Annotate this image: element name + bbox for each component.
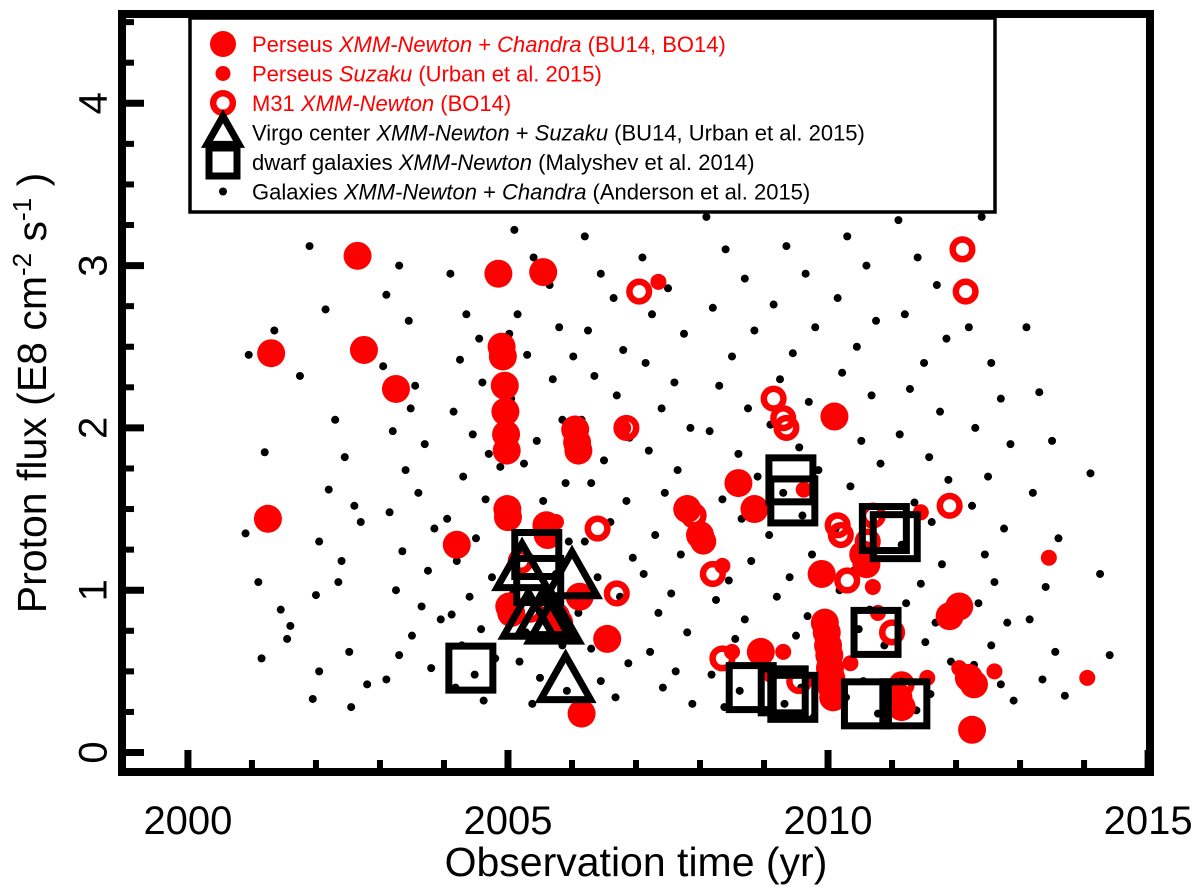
data-point-tiny-dot: [659, 684, 667, 692]
data-point-large-filled-circle: [254, 505, 282, 533]
data-point-tiny-dot: [514, 310, 522, 318]
data-point-tiny-dot: [645, 447, 653, 455]
data-point-tiny-dot: [254, 578, 262, 586]
data-point-tiny-dot: [485, 450, 493, 458]
data-point-tiny-dot: [597, 270, 605, 278]
legend-item[interactable]: Galaxies XMM-Newton + Chandra (Anderson …: [219, 180, 810, 205]
scatter-plot: 200020052010201501234Observation time (y…: [0, 0, 1200, 889]
data-point-tiny-dot: [1026, 615, 1034, 623]
data-point-tiny-dot: [448, 611, 456, 619]
data-point-large-filled-circle: [382, 375, 410, 403]
data-point-tiny-dot: [688, 700, 696, 708]
data-point-tiny-dot: [427, 664, 435, 672]
data-point-tiny-dot: [838, 369, 846, 377]
data-point-tiny-dot: [917, 580, 925, 588]
data-point-small-filled-circle: [548, 514, 564, 530]
data-point-tiny-dot: [1061, 692, 1069, 700]
data-point-tiny-dot: [802, 270, 810, 278]
data-point-open-circle: [940, 496, 960, 516]
data-point-tiny-dot: [754, 473, 762, 481]
data-point-tiny-dot: [747, 557, 755, 565]
data-point-tiny-dot: [987, 359, 995, 367]
data-point-tiny-dot: [651, 531, 659, 539]
data-point-tiny-dot: [563, 687, 571, 695]
data-point-tiny-dot: [968, 502, 976, 510]
data-point-tiny-dot: [987, 641, 995, 649]
data-point-tiny-dot: [658, 404, 666, 412]
data-point-large-filled-circle: [724, 469, 752, 497]
data-point-open-circle: [956, 282, 976, 302]
data-point-tiny-dot: [765, 531, 773, 539]
x-tick-label: 2005: [463, 799, 552, 843]
data-point-tiny-dot: [1054, 534, 1062, 542]
data-point-tiny-dot: [776, 375, 784, 383]
data-point-tiny-dot: [702, 213, 710, 221]
data-point-small-filled-circle: [1079, 670, 1095, 686]
data-point-tiny-dot: [270, 327, 278, 335]
data-point-tiny-dot: [619, 346, 627, 354]
legend-marker-large-filled-circle-icon: [210, 31, 236, 57]
data-point-tiny-dot: [569, 352, 577, 360]
data-point-tiny-dot: [398, 547, 406, 555]
data-point-tiny-dot: [283, 635, 291, 643]
data-point-tiny-dot: [389, 427, 397, 435]
data-point-open-circle: [953, 240, 973, 260]
data-point-tiny-dot: [600, 456, 608, 464]
x-tick-label: 2015: [1104, 799, 1193, 843]
legend-label: Virgo center XMM-Newton + Suzaku (BU14, …: [252, 121, 865, 146]
legend-item[interactable]: dwarf galaxies XMM-Newton (Malyshev et a…: [209, 148, 755, 176]
data-point-large-filled-circle: [958, 716, 986, 744]
data-point-tiny-dot: [590, 372, 598, 380]
data-point-tiny-dot: [782, 242, 790, 250]
data-point-tiny-dot: [770, 301, 778, 309]
data-point-tiny-dot: [718, 495, 726, 503]
data-point-tiny-dot: [277, 606, 285, 614]
data-point-tiny-dot: [781, 700, 789, 708]
data-point-large-filled-circle: [494, 503, 522, 531]
legend-label: Perseus Suzaku (Urban et al. 2015): [252, 62, 602, 87]
data-point-tiny-dot: [418, 602, 426, 610]
data-point-tiny-dot: [424, 567, 432, 575]
data-point-tiny-dot: [1035, 388, 1043, 396]
data-point-tiny-dot: [510, 226, 518, 234]
data-point-tiny-dot: [677, 551, 685, 559]
data-point-tiny-dot: [925, 453, 933, 461]
data-point-tiny-dot: [520, 460, 528, 468]
data-point-tiny-dot: [587, 645, 595, 653]
y-tick-label: 0: [72, 741, 116, 763]
data-point-tiny-dot: [965, 323, 973, 331]
data-point-tiny-dot: [853, 343, 861, 351]
data-point-tiny-dot: [480, 697, 488, 705]
data-point-large-filled-circle: [568, 700, 596, 728]
data-point-tiny-dot: [1010, 697, 1018, 705]
data-point-tiny-dot: [395, 262, 403, 270]
data-point-tiny-dot: [1022, 323, 1030, 331]
data-point-tiny-dot: [1048, 437, 1056, 445]
data-point-tiny-dot: [341, 453, 349, 461]
data-point-tiny-dot: [741, 615, 749, 623]
data-point-tiny-dot: [584, 327, 592, 335]
data-point-tiny-dot: [309, 695, 317, 703]
legend: Perseus XMM-Newton + Chandra (BU14, BO14…: [190, 18, 995, 212]
data-point-tiny-dot: [906, 385, 914, 393]
data-point-tiny-dot: [725, 576, 733, 584]
data-point-tiny-dot: [642, 359, 650, 367]
data-point-tiny-dot: [528, 700, 536, 708]
data-point-tiny-dot: [477, 625, 485, 633]
data-point-tiny-dot: [549, 375, 557, 383]
data-point-tiny-dot: [1042, 583, 1050, 591]
legend-marker-tiny-dot-icon: [219, 188, 227, 196]
data-point-tiny-dot: [581, 232, 589, 240]
data-point-tiny-dot: [914, 253, 922, 261]
data-point-large-filled-circle: [484, 260, 512, 288]
data-point-tiny-dot: [1029, 489, 1037, 497]
data-point-tiny-dot: [581, 538, 589, 546]
legend-item[interactable]: M31 XMM-Newton (BO14): [213, 91, 511, 116]
data-point-tiny-dot: [674, 466, 682, 474]
data-point-tiny-dot: [382, 291, 390, 299]
data-point-large-filled-circle: [945, 592, 973, 620]
data-point-tiny-dot: [379, 362, 387, 370]
data-point-tiny-dot: [350, 502, 358, 510]
data-point-tiny-dot: [334, 578, 342, 586]
data-point-tiny-dot: [488, 573, 496, 581]
data-point-tiny-dot: [347, 703, 355, 711]
data-point-large-filled-circle: [344, 242, 372, 270]
data-point-large-filled-circle: [960, 670, 988, 698]
series-large-filled-circle: [254, 242, 988, 744]
data-point-tiny-dot: [896, 430, 904, 438]
y-tick-label: 4: [72, 92, 116, 114]
data-point-small-filled-circle: [865, 579, 881, 595]
data-point-tiny-dot: [315, 538, 323, 546]
data-point-tiny-dot: [808, 551, 816, 559]
data-point-tiny-dot: [610, 294, 618, 302]
data-point-tiny-dot: [646, 648, 654, 656]
data-point-tiny-dot: [1106, 651, 1114, 659]
data-point-tiny-dot: [456, 356, 464, 364]
data-point-tiny-dot: [258, 654, 266, 662]
data-point-tiny-dot: [921, 638, 929, 646]
data-point-tiny-dot: [516, 658, 524, 666]
data-point-tiny-dot: [315, 667, 323, 675]
data-point-tiny-dot: [638, 253, 646, 261]
data-point-tiny-dot: [862, 262, 870, 270]
data-point-tiny-dot: [345, 648, 353, 656]
data-point-tiny-dot: [622, 497, 630, 505]
data-point-tiny-dot: [728, 352, 736, 360]
data-point-tiny-dot: [331, 416, 339, 424]
data-point-tiny-dot: [902, 599, 910, 607]
data-point-tiny-dot: [654, 609, 662, 617]
data-point-tiny-dot: [466, 593, 474, 601]
data-point-tiny-dot: [936, 408, 944, 416]
data-point-tiny-dot: [731, 635, 739, 643]
data-point-tiny-dot: [482, 495, 490, 503]
data-point-large-filled-circle: [443, 531, 471, 559]
data-point-small-filled-circle: [986, 663, 1002, 679]
data-point-large-filled-circle: [529, 258, 557, 286]
data-point-tiny-dot: [597, 677, 605, 685]
data-point-tiny-dot: [325, 486, 333, 494]
data-point-tiny-dot: [712, 596, 720, 604]
data-point-tiny-dot: [834, 294, 842, 302]
data-point-small-filled-circle: [1041, 550, 1057, 566]
data-point-tiny-dot: [722, 245, 730, 253]
figure-root: 200020052010201501234Observation time (y…: [0, 0, 1200, 889]
data-point-tiny-dot: [942, 335, 950, 343]
data-point-tiny-dot: [306, 242, 314, 250]
legend-item[interactable]: Perseus XMM-Newton + Chandra (BU14, BO14…: [210, 31, 726, 57]
data-point-tiny-dot: [395, 651, 403, 659]
data-point-large-filled-circle: [740, 495, 768, 523]
data-point-tiny-dot: [798, 512, 806, 520]
y-tick-label: 3: [72, 254, 116, 276]
data-point-tiny-dot: [612, 693, 620, 701]
data-point-tiny-dot: [843, 232, 851, 240]
data-point-tiny-dot: [613, 391, 621, 399]
data-point-tiny-dot: [984, 473, 992, 481]
data-point-tiny-dot: [322, 305, 330, 313]
x-axis-title: Observation time (yr): [445, 839, 828, 885]
data-point-tiny-dot: [405, 317, 413, 325]
data-point-tiny-dot: [811, 323, 819, 331]
data-point-tiny-dot: [450, 408, 458, 416]
data-point-tiny-dot: [928, 518, 936, 526]
data-point-tiny-dot: [1006, 440, 1014, 448]
data-point-tiny-dot: [539, 497, 547, 505]
data-point-tiny-dot: [338, 557, 346, 565]
data-point-tiny-dot: [357, 518, 365, 526]
data-point-tiny-dot: [981, 551, 989, 559]
data-point-tiny-dot: [978, 213, 986, 221]
data-point-tiny-dot: [459, 473, 467, 481]
legend-marker-small-filled-circle-icon: [216, 66, 231, 81]
data-point-tiny-dot: [804, 612, 812, 620]
data-point-tiny-dot: [462, 310, 470, 318]
data-point-tiny-dot: [640, 570, 648, 578]
data-point-tiny-dot: [709, 304, 717, 312]
data-point-tiny-dot: [877, 460, 885, 468]
data-point-tiny-dot: [868, 391, 876, 399]
data-point-tiny-dot: [245, 351, 253, 359]
legend-label: Galaxies XMM-Newton + Chandra (Anderson …: [252, 180, 810, 205]
data-point-open-triangle: [497, 544, 547, 588]
data-point-small-filled-circle: [951, 660, 967, 676]
data-point-tiny-dot: [686, 424, 694, 432]
data-point-tiny-dot: [648, 310, 656, 318]
data-point-tiny-dot: [672, 667, 680, 675]
data-point-tiny-dot: [286, 622, 294, 630]
data-point-large-filled-circle: [593, 625, 621, 653]
data-point-tiny-dot: [469, 430, 477, 438]
data-point-open-circle: [703, 564, 723, 584]
data-point-tiny-dot: [901, 310, 909, 318]
data-point-tiny-dot: [392, 586, 400, 594]
y-tick-label: 1: [72, 579, 116, 601]
x-tick-label: 2010: [784, 799, 873, 843]
data-point-tiny-dot: [408, 632, 416, 640]
data-point-tiny-dot: [430, 525, 438, 533]
data-point-tiny-dot: [472, 534, 480, 542]
data-point-tiny-dot: [1086, 469, 1094, 477]
data-point-large-filled-circle: [747, 638, 775, 666]
data-point-tiny-dot: [670, 378, 678, 386]
data-point-tiny-dot: [786, 573, 794, 581]
data-point-tiny-dot: [661, 489, 669, 497]
data-point-small-filled-circle: [796, 482, 812, 498]
data-point-tiny-dot: [750, 327, 758, 335]
data-point-tiny-dot: [382, 675, 390, 683]
data-point-tiny-dot: [407, 404, 415, 412]
data-point-large-filled-circle: [350, 336, 378, 364]
data-point-open-circle: [588, 519, 608, 539]
data-point-tiny-dot: [857, 437, 865, 445]
data-point-tiny-dot: [680, 330, 688, 338]
data-point-tiny-dot: [1096, 570, 1104, 578]
data-point-tiny-dot: [594, 573, 602, 581]
data-point-large-filled-circle: [257, 339, 285, 367]
data-point-tiny-dot: [736, 687, 744, 695]
data-point-tiny-dot: [792, 632, 800, 640]
data-point-large-filled-circle: [493, 437, 521, 465]
data-point-tiny-dot: [363, 680, 371, 688]
data-point-open-circle: [607, 584, 627, 604]
data-point-tiny-dot: [296, 372, 304, 380]
data-point-tiny-dot: [971, 424, 979, 432]
data-point-tiny-dot: [1038, 675, 1046, 683]
x-tick-label: 2000: [143, 799, 232, 843]
data-point-tiny-dot: [629, 554, 637, 562]
data-point-large-filled-circle: [564, 437, 592, 465]
data-point-tiny-dot: [478, 378, 486, 386]
data-point-tiny-dot: [555, 323, 563, 331]
data-point-tiny-dot: [261, 448, 269, 456]
data-point-large-filled-circle: [489, 342, 517, 370]
legend-label: dwarf galaxies XMM-Newton (Malyshev et a…: [252, 150, 755, 175]
data-point-tiny-dot: [920, 359, 928, 367]
data-point-tiny-dot: [533, 437, 541, 445]
legend-label: Perseus XMM-Newton + Chandra (BU14, BO14…: [252, 32, 726, 57]
data-point-tiny-dot: [471, 671, 479, 679]
data-point-large-filled-circle: [820, 403, 848, 431]
data-point-tiny-dot: [715, 382, 723, 390]
y-tick-label: 2: [72, 417, 116, 439]
data-point-tiny-dot: [795, 443, 803, 451]
data-point-tiny-dot: [475, 335, 483, 343]
data-point-tiny-dot: [1000, 525, 1008, 533]
legend-item[interactable]: Virgo center XMM-Newton + Suzaku (BU14, …: [207, 116, 865, 145]
data-point-tiny-dot: [587, 479, 595, 487]
data-point-tiny-dot: [421, 440, 429, 448]
data-point-tiny-dot: [402, 466, 410, 474]
data-point-large-filled-circle: [808, 560, 836, 588]
data-point-tiny-dot: [997, 395, 1005, 403]
data-point-tiny-dot: [565, 538, 573, 546]
data-point-tiny-dot: [523, 351, 531, 359]
data-point-tiny-dot: [562, 479, 570, 487]
data-point-small-filled-circle: [650, 274, 666, 290]
data-point-tiny-dot: [443, 515, 451, 523]
legend-label: M31 XMM-Newton (BO14): [252, 91, 511, 116]
data-point-tiny-dot: [411, 382, 419, 390]
data-point-tiny-dot: [1051, 648, 1059, 656]
data-point-tiny-dot: [437, 615, 445, 623]
data-point-tiny-dot: [789, 349, 797, 357]
data-point-tiny-dot: [846, 482, 854, 490]
data-point-tiny-dot: [624, 659, 632, 667]
data-point-open-circle: [837, 571, 857, 591]
data-point-tiny-dot: [242, 529, 250, 537]
data-point-tiny-dot: [1003, 619, 1011, 627]
data-point-tiny-dot: [706, 427, 714, 435]
data-point-tiny-dot: [741, 275, 749, 283]
data-point-tiny-dot: [805, 398, 813, 406]
data-point-open-circle: [629, 282, 649, 302]
data-point-tiny-dot: [744, 404, 752, 412]
data-point-tiny-dot: [312, 591, 320, 599]
data-point-tiny-dot: [708, 671, 716, 679]
data-point-tiny-dot: [386, 508, 394, 516]
data-point-tiny-dot: [667, 589, 675, 597]
data-point-tiny-dot: [414, 489, 422, 497]
data-point-tiny-dot: [974, 599, 982, 607]
data-point-tiny-dot: [446, 270, 454, 278]
y-axis-title: Proton flux (E8 cm-2 s-1 ): [7, 173, 55, 613]
data-point-tiny-dot: [990, 578, 998, 586]
series-open-circle: [511, 240, 975, 695]
data-point-tiny-dot: [779, 489, 787, 497]
data-point-tiny-dot: [938, 560, 946, 568]
data-point-tiny-dot: [734, 450, 742, 458]
data-point-tiny-dot: [773, 593, 781, 601]
data-point-tiny-dot: [933, 281, 941, 289]
data-point-tiny-dot: [872, 317, 880, 325]
data-point-tiny-dot: [894, 216, 902, 224]
data-point-tiny-dot: [683, 628, 691, 636]
data-point-open-square: [449, 646, 493, 690]
legend-item[interactable]: Perseus Suzaku (Urban et al. 2015): [216, 62, 602, 87]
data-point-large-filled-circle: [491, 372, 519, 400]
data-point-small-filled-circle: [775, 644, 791, 660]
data-point-tiny-dot: [997, 680, 1005, 688]
data-point-tiny-dot: [944, 476, 952, 484]
data-point-tiny-dot: [536, 674, 544, 682]
